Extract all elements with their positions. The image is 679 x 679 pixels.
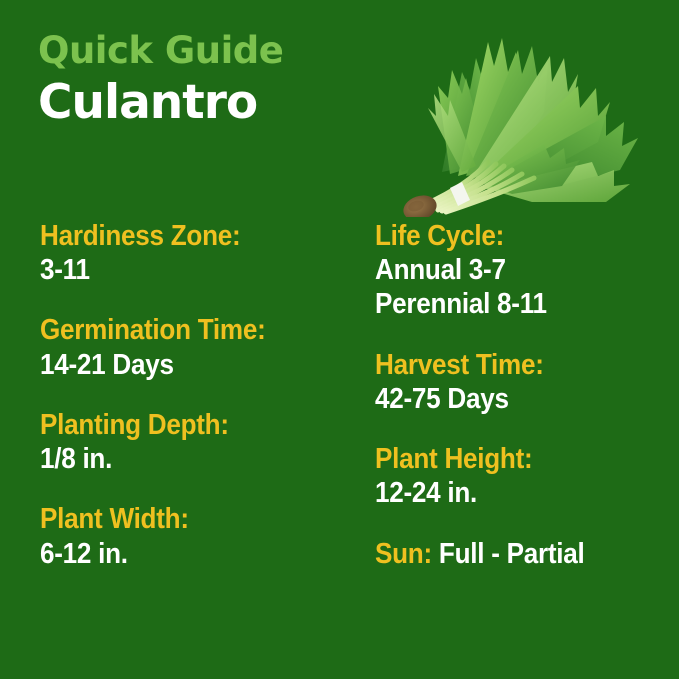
fact-label: Planting Depth: <box>40 408 328 442</box>
fact-value: 14-21 Days <box>40 348 328 382</box>
culantro-illustration-svg <box>392 12 674 217</box>
header-block: Quick Guide Culantro <box>38 32 398 130</box>
fact-germination-time: Germination Time: 14-21 Days <box>40 313 360 381</box>
fact-hardiness-zone: Hardiness Zone: 3-11 <box>40 219 360 287</box>
fact-label: Sun: <box>375 538 432 570</box>
facts-columns: Hardiness Zone: 3-11 Germination Time: 1… <box>0 219 679 619</box>
fact-value: 12-24 in. <box>375 476 641 510</box>
fact-value: 6-12 in. <box>40 537 328 571</box>
fact-harvest-time: Harvest Time: 42-75 Days <box>375 348 670 416</box>
fact-label: Plant Width: <box>40 502 328 536</box>
fact-label: Harvest Time: <box>375 348 641 382</box>
fact-value: Full - Partial <box>439 538 585 570</box>
fact-plant-height: Plant Height: 12-24 in. <box>375 442 670 510</box>
fact-life-cycle: Life Cycle: Annual 3-7 Perennial 8-11 <box>375 219 670 322</box>
fact-label: Plant Height: <box>375 442 641 476</box>
quick-guide-kicker: Quick Guide <box>38 32 398 69</box>
facts-column-right: Life Cycle: Annual 3-7 Perennial 8-11 Ha… <box>375 219 670 571</box>
fact-sun: Sun: Full - Partial <box>375 537 670 571</box>
page-title: Culantro <box>38 77 398 130</box>
fact-value: 3-11 <box>40 253 328 287</box>
fact-value-secondary: Perennial 8-11 <box>375 287 641 321</box>
fact-label: Germination Time: <box>40 313 328 347</box>
fact-plant-width: Plant Width: 6-12 in. <box>40 502 360 570</box>
quick-guide-infographic: Quick Guide Culantro <box>0 0 679 679</box>
fact-label: Life Cycle: <box>375 219 641 253</box>
fact-planting-depth: Planting Depth: 1/8 in. <box>40 408 360 476</box>
fact-value: 1/8 in. <box>40 442 328 476</box>
fact-label: Hardiness Zone: <box>40 219 328 253</box>
fact-value: Annual 3-7 <box>375 253 641 287</box>
facts-column-left: Hardiness Zone: 3-11 Germination Time: 1… <box>40 219 360 571</box>
culantro-bunch-image <box>392 12 674 217</box>
fact-value: 42-75 Days <box>375 382 641 416</box>
